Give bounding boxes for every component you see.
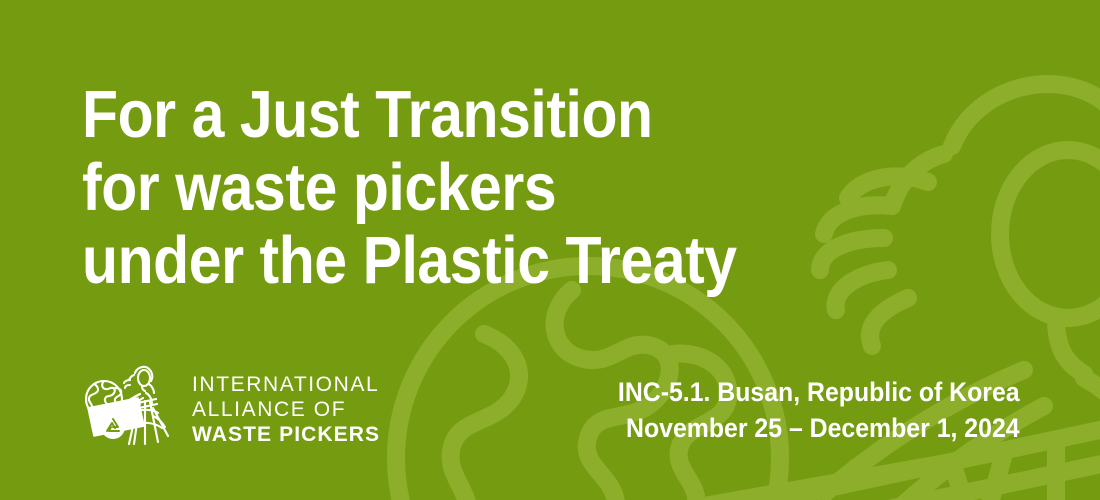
headline-line-3: under the Plastic Treaty: [82, 224, 737, 297]
wordmark-line-1: INTERNATIONAL: [192, 372, 380, 397]
wordmark-line-3: WASTE PICKERS: [192, 422, 380, 447]
headline-line-2: for waste pickers: [82, 151, 737, 224]
wordmark-line-2: ALLIANCE OF: [192, 397, 380, 422]
organization-wordmark: INTERNATIONAL ALLIANCE OF WASTE PICKERS: [192, 370, 380, 447]
event-location-line: INC-5.1. Busan, Republic of Korea: [618, 374, 1020, 410]
headline-line-1: For a Just Transition: [82, 78, 737, 151]
page-title: For a Just Transition for waste pickers …: [82, 78, 826, 297]
event-details: INC-5.1. Busan, Republic of Korea Novemb…: [583, 374, 1020, 446]
event-date-line: November 25 – December 1, 2024: [618, 410, 1020, 446]
waste-picker-cart-globe-logo-icon: [80, 364, 176, 452]
campaign-banner: For a Just Transition for waste pickers …: [0, 0, 1100, 500]
organization-logo: INTERNATIONAL ALLIANCE OF WASTE PICKERS: [80, 364, 380, 452]
